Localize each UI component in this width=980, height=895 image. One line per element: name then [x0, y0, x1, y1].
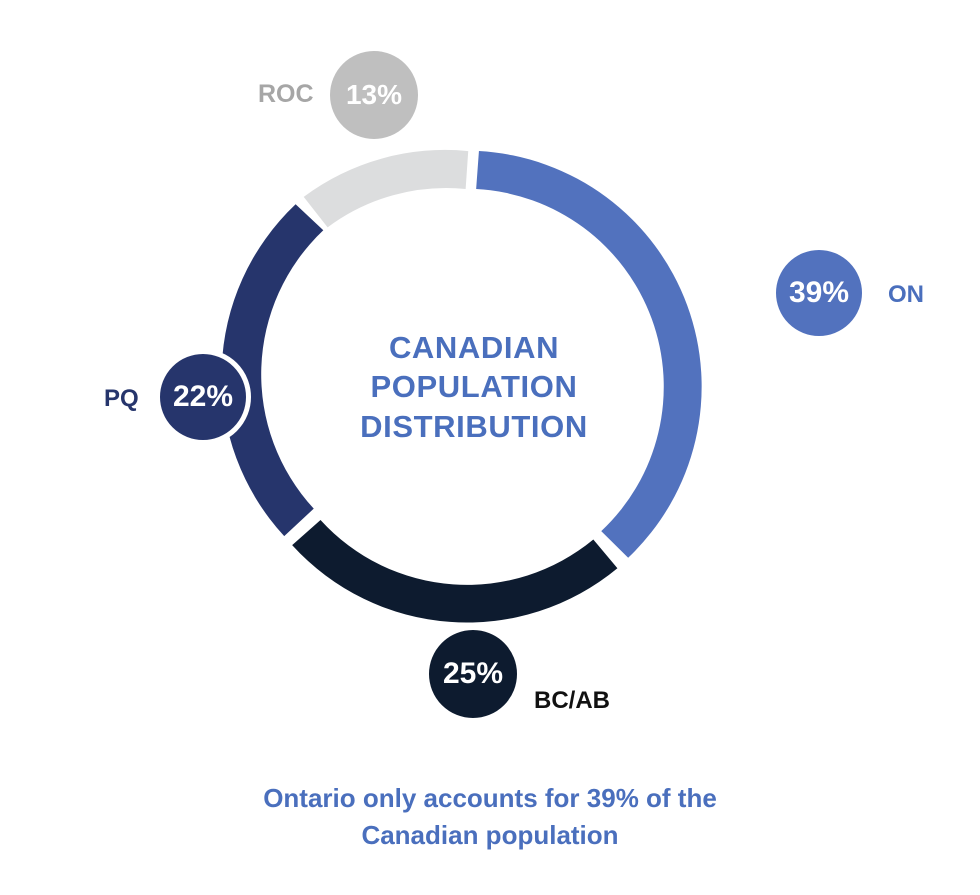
- segment-label-roc: ROC: [258, 80, 314, 109]
- percent-badge-on[interactable]: 39%: [771, 245, 867, 341]
- donut-segment-bcab[interactable]: [292, 520, 617, 622]
- segment-label-bcab: BC/AB: [534, 687, 610, 715]
- donut-segment-on[interactable]: [476, 151, 702, 558]
- donut-segment-roc[interactable]: [304, 150, 469, 227]
- segment-label-pq: PQ: [104, 385, 139, 413]
- segment-label-on: ON: [888, 281, 924, 309]
- percent-badge-roc[interactable]: 13%: [330, 51, 418, 139]
- caption-line-2: Canadian population: [0, 817, 980, 854]
- chart-caption: Ontario only accounts for 39% of the Can…: [0, 780, 980, 854]
- percent-badge-bcab[interactable]: 25%: [424, 625, 522, 723]
- population-distribution-infographic: CANADIAN POPULATION DISTRIBUTION 39% 25%…: [0, 0, 980, 895]
- donut-chart: CANADIAN POPULATION DISTRIBUTION 39% 25%…: [0, 0, 980, 770]
- percent-badge-pq[interactable]: 22%: [155, 349, 251, 445]
- caption-line-1: Ontario only accounts for 39% of the: [0, 780, 980, 817]
